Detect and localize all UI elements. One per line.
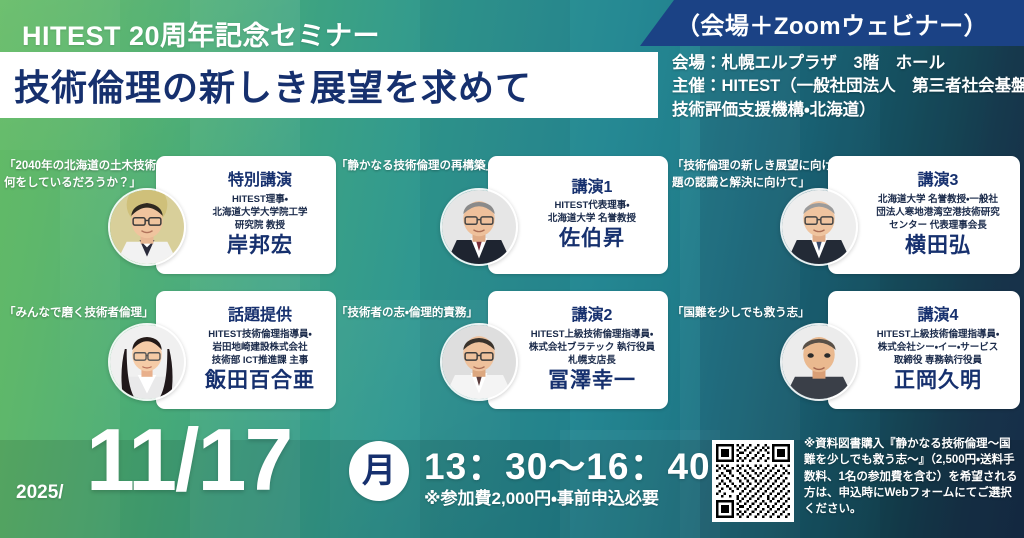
lecture-label: 講演3 — [918, 172, 959, 190]
speaker-info-card: 講演3 北海道大学 名誉教授・一般社団法人寒地港湾空港技術研究センター 代表理事… — [828, 156, 1020, 274]
talk-title: 「静かなる技術倫理の再構築」 — [336, 158, 512, 175]
avatar — [780, 323, 858, 401]
speaker-card-2: 「技術倫理の新しき展望に向けた課題の認識と解決に向けて」 講演3 — [668, 156, 1020, 276]
format-banner-label: （会場＋Zoomウェビナー） — [676, 6, 988, 41]
avatar — [440, 323, 518, 401]
affiliation: HITEST上級技術倫理指導員・株式会社シー・イー・サービス取締役 専務執行役員 — [877, 328, 1000, 367]
affiliation: HITEST上級技術倫理指導員・株式会社ブラテック 執行役員札幌支店長 — [529, 328, 655, 367]
talk-title: 「みんなで磨く技術者倫理」 — [4, 305, 180, 322]
affiliation: 北海道大学 名誉教授・一般社団法人寒地港湾空港技術研究センター 代表理事会長 — [876, 193, 1000, 232]
speaker-card-3: 「みんなで磨く技術者倫理」 話題提供 — [4, 291, 336, 411]
fee-note: ※参加費2,000円・事前申込必要 — [424, 484, 659, 509]
event-time: 13：30〜16：40 — [424, 436, 711, 490]
speaker-name: 横田弘 — [905, 235, 971, 257]
venue-info: 会場：札幌エルプラザ 3階 ホール 主催：HITEST（一般社団法人 第三者社会… — [672, 52, 1024, 122]
affiliation: HITEST代表理事・北海道大学 名誉教授 — [548, 199, 636, 225]
event-date: 11/17 — [86, 416, 291, 504]
speaker-info-card: 講演4 HITEST上級技術倫理指導員・株式会社シー・イー・サービス取締役 専務… — [828, 291, 1020, 409]
lecture-label: 話題提供 — [228, 307, 292, 325]
event-footer: 2025/ 11/17 月 13：30〜16：40 ※参加費2,000円・事前申… — [0, 418, 1024, 538]
page-title: 技術倫理の新しき展望を求めて — [0, 59, 532, 111]
speaker-name: 佐伯昇 — [559, 228, 625, 250]
speaker-card-4: 「技術者の志・倫理的責務」 講演2 HITEST — [336, 291, 668, 411]
talk-title: 「2040年の北海道の土木技術者は何をしているだろうか？」 — [4, 158, 180, 191]
organizer-line-cont: 技術評価支援機構・北海道） — [672, 99, 1024, 122]
speaker-card-0: 「2040年の北海道の土木技術者は何をしているだろうか？」 — [4, 156, 336, 276]
seminar-poster: HITEST 20周年記念セミナー 技術倫理の新しき展望を求めて （会場＋Zoo… — [0, 0, 1024, 538]
qr-code-icon[interactable] — [712, 440, 794, 522]
seminar-kicker: HITEST 20周年記念セミナー — [22, 14, 380, 53]
venue-line: 会場：札幌エルプラザ 3階 ホール — [672, 52, 1024, 75]
speaker-card-5: 「国難を少しでも救う志」 講演4 HITEST上級技術倫理指導員・株式会社シー・… — [668, 291, 1020, 411]
lecture-label: 特別講演 — [228, 172, 292, 190]
title-bar: 技術倫理の新しき展望を求めて — [0, 52, 658, 118]
talk-title: 「技術者の志・倫理的責務」 — [336, 305, 512, 322]
weekday-label: 月 — [362, 454, 396, 488]
avatar — [108, 188, 186, 266]
speaker-name: 飯田百合亜 — [205, 370, 315, 392]
avatar — [780, 188, 858, 266]
speaker-name: 冨澤幸一 — [548, 370, 636, 392]
speaker-name: 岸邦宏 — [227, 235, 293, 257]
lecture-label: 講演1 — [572, 179, 613, 197]
affiliation: HITEST技術倫理指導員・岩田地崎建設株式会社技術部 ICT推進課 主事 — [208, 328, 312, 367]
format-banner: （会場＋Zoomウェビナー） — [640, 0, 1024, 46]
affiliation: HITEST理事・北海道大学大学院工学研究院 教授 — [212, 193, 307, 232]
organizer-line: 主催：HITEST（一般社団法人 第三者社会基盤 — [672, 75, 1024, 98]
lecture-label: 講演4 — [918, 307, 959, 325]
speaker-card-1: 「静かなる技術倫理の再構築」 講演1 HITES — [336, 156, 668, 276]
weekday-badge: 月 — [349, 441, 409, 501]
speaker-name: 正岡久明 — [894, 370, 982, 392]
speaker-row-top: 「2040年の北海道の土木技術者は何をしているだろうか？」 — [0, 156, 1024, 276]
event-year: 2025/ — [16, 482, 64, 504]
avatar — [108, 323, 186, 401]
avatar — [440, 188, 518, 266]
lecture-label: 講演2 — [572, 307, 613, 325]
purchase-note: ※資料図書購入『静かなる技術倫理〜国難を少しでも救う志〜』（2,500円・送料手… — [804, 436, 1018, 518]
speaker-row-bottom: 「みんなで磨く技術者倫理」 話題提供 — [0, 291, 1024, 411]
